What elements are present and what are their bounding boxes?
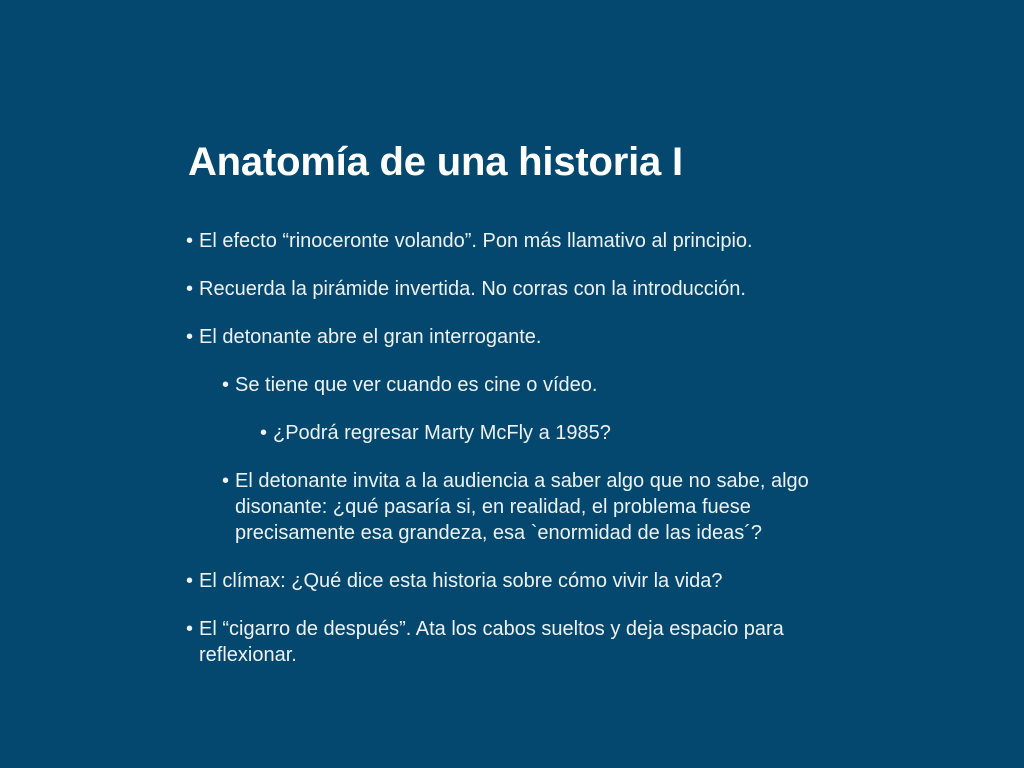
- bullet-item: • El “cigarro de después”. Ata los cabos…: [186, 616, 886, 668]
- bullet-item: • ¿Podrá regresar Marty McFly a 1985?: [260, 420, 886, 446]
- bullet-text: ¿Podrá regresar Marty McFly a 1985?: [260, 420, 886, 446]
- presentation-slide: Anatomía de una historia I • El efecto “…: [0, 0, 1024, 768]
- bullet-marker-icon: •: [186, 228, 199, 254]
- slide-title: Anatomía de una historia I: [188, 138, 988, 186]
- bullet-text: Recuerda la pirámide invertida. No corra…: [186, 276, 886, 302]
- bullet-marker-icon: •: [222, 468, 235, 494]
- bullet-marker-icon: •: [186, 568, 199, 594]
- slide-body: • El efecto “rinoceronte volando”. Pon m…: [186, 228, 886, 668]
- bullet-text: El efecto “rinoceronte volando”. Pon más…: [186, 228, 759, 254]
- bullet-marker-icon: •: [260, 420, 273, 446]
- bullet-item: • Recuerda la pirámide invertida. No cor…: [186, 276, 886, 302]
- bullet-marker-icon: •: [186, 616, 199, 642]
- bullet-item: • Se tiene que ver cuando es cine o víde…: [222, 372, 886, 398]
- bullet-item: • El detonante invita a la audiencia a s…: [222, 468, 886, 546]
- bullet-item: • El detonante abre el gran interrogante…: [186, 324, 886, 350]
- bullet-text: El detonante abre el gran interrogante.: [186, 324, 886, 350]
- bullet-text: El detonante invita a la audiencia a sab…: [222, 468, 820, 546]
- bullet-marker-icon: •: [186, 324, 199, 350]
- bullet-marker-icon: •: [222, 372, 235, 398]
- bullet-marker-icon: •: [186, 276, 199, 302]
- bullet-text: Se tiene que ver cuando es cine o vídeo.: [222, 372, 886, 398]
- bullet-item: • El efecto “rinoceronte volando”. Pon m…: [186, 228, 886, 254]
- bullet-text: El clímax: ¿Qué dice esta historia sobre…: [186, 568, 886, 594]
- bullet-item: • El clímax: ¿Qué dice esta historia sob…: [186, 568, 886, 594]
- bullet-text: El “cigarro de después”. Ata los cabos s…: [186, 616, 886, 668]
